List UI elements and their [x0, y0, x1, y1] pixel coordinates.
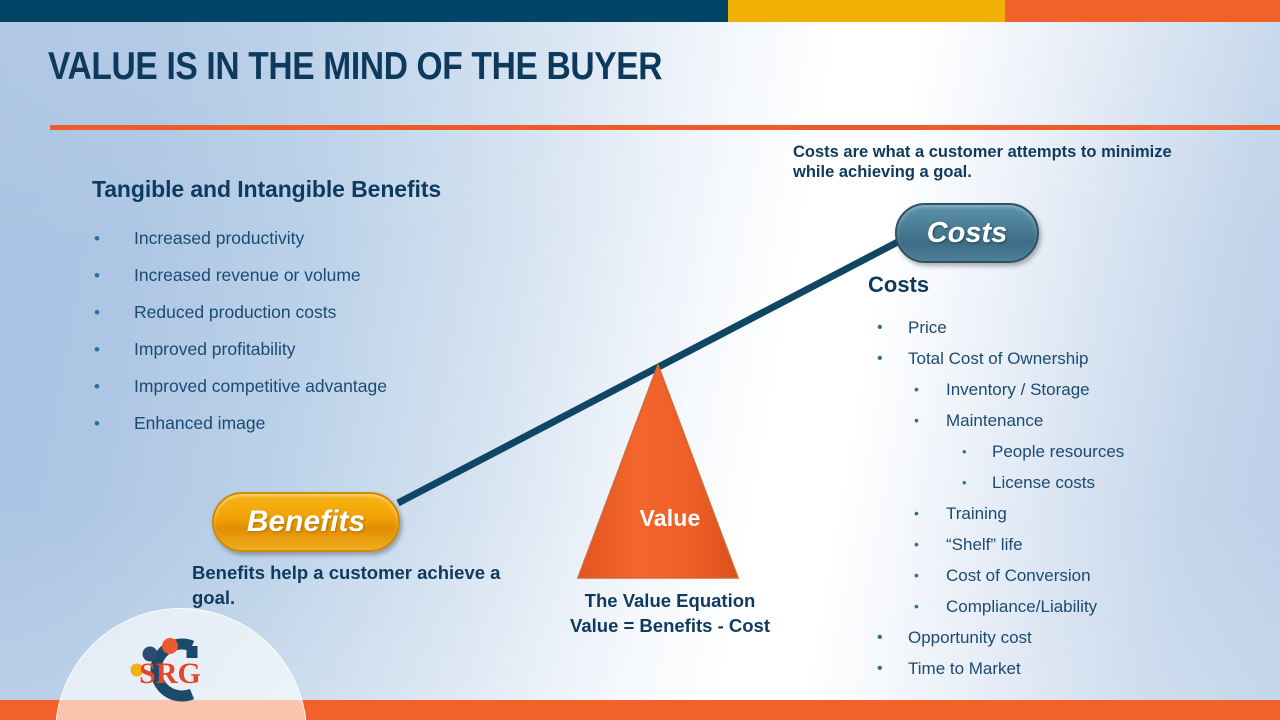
value-triangle: [560, 350, 780, 595]
list-item: People resources: [868, 436, 1268, 467]
value-equation-line2: Value = Benefits - Cost: [490, 613, 850, 638]
value-equation-line1: The Value Equation: [490, 588, 850, 613]
list-item: Enhanced image: [92, 405, 562, 442]
list-item: Increased productivity: [92, 220, 562, 257]
top-bar-navy: [0, 0, 728, 22]
list-item: Inventory / Storage: [868, 374, 1268, 405]
list-item: Time to Market: [868, 653, 1268, 684]
costs-heading: Costs: [868, 272, 929, 298]
costs-pill[interactable]: Costs: [895, 203, 1039, 263]
top-bar-yellow: [728, 0, 1005, 22]
list-item: Total Cost of Ownership: [868, 343, 1268, 374]
triangle-label: Value: [560, 505, 780, 532]
list-item: Maintenance: [868, 405, 1268, 436]
benefits-list: Increased productivity Increased revenue…: [92, 220, 562, 442]
list-item: Compliance/Liability: [868, 591, 1268, 622]
list-item: “Shelf” life: [868, 529, 1268, 560]
srg-logo: SRG: [118, 636, 222, 704]
title-underline-rule: [50, 125, 1280, 130]
list-item: Improved profitability: [92, 331, 562, 368]
value-equation-caption: The Value Equation Value = Benefits - Co…: [490, 588, 850, 638]
logo-text: SRG: [139, 657, 201, 690]
list-item: Reduced production costs: [92, 294, 562, 331]
logo-dot-orange: [162, 638, 178, 654]
list-item: Increased revenue or volume: [92, 257, 562, 294]
benefits-heading: Tangible and Intangible Benefits: [92, 176, 441, 203]
list-item: Improved competitive advantage: [92, 368, 562, 405]
benefits-pill[interactable]: Benefits: [212, 492, 400, 552]
page-title: VALUE IS IN THE MIND OF THE BUYER: [48, 45, 662, 89]
slide-canvas: VALUE IS IN THE MIND OF THE BUYER Tangib…: [0, 0, 1280, 720]
list-item: Training: [868, 498, 1268, 529]
costs-caption: Costs are what a customer attempts to mi…: [793, 142, 1193, 182]
benefits-caption: Benefits help a customer achieve a goal.: [192, 560, 522, 610]
top-bar-orange: [1005, 0, 1280, 22]
list-item: Opportunity cost: [868, 622, 1268, 653]
list-item: Price: [868, 312, 1268, 343]
costs-list: Price Total Cost of Ownership Inventory …: [868, 312, 1268, 684]
list-item: Cost of Conversion: [868, 560, 1268, 591]
list-item: License costs: [868, 467, 1268, 498]
